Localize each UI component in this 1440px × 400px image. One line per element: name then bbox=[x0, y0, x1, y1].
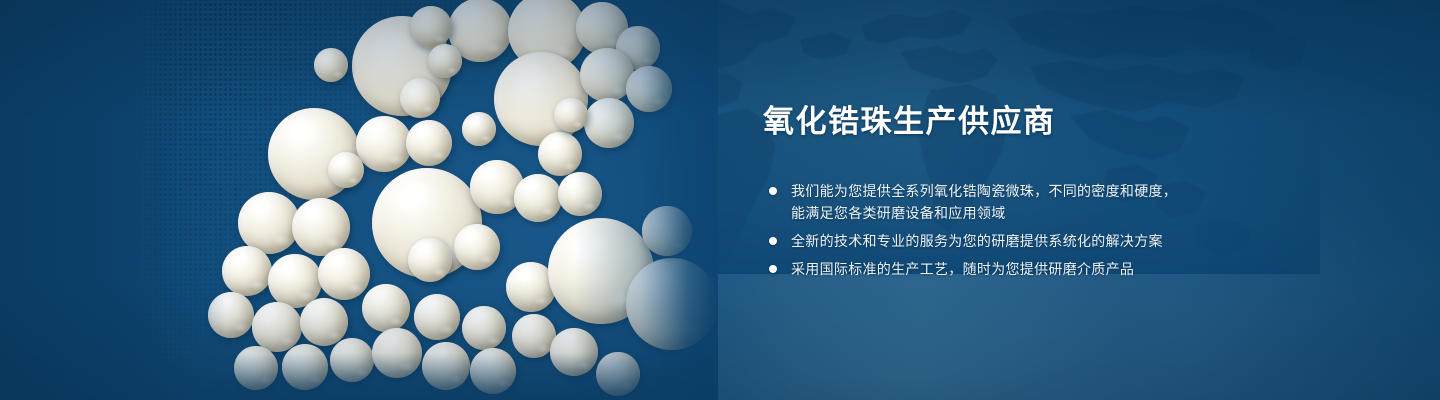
bullet-dot-icon bbox=[769, 187, 777, 195]
benefit-text: 采用国际标准的生产工艺，随时为您提供研磨介质产品 bbox=[791, 258, 1233, 280]
banner-headline: 氧化锆珠生产供应商 bbox=[763, 104, 1233, 140]
bullet-dot-icon bbox=[769, 237, 777, 245]
banner-copy: 氧化锆珠生产供应商 我们能为您提供全系列氧化锆陶瓷微珠，不同的密度和硬度， 能满… bbox=[763, 104, 1233, 280]
bullet-dot-icon bbox=[769, 265, 777, 273]
benefit-text: 我们能为您提供全系列氧化锆陶瓷微珠，不同的密度和硬度， 能满足您各类研磨设备和应… bbox=[791, 180, 1233, 224]
benefit-text: 全新的技术和专业的服务为您的研磨提供系统化的解决方案 bbox=[791, 230, 1233, 252]
benefit-list-item: 全新的技术和专业的服务为您的研磨提供系统化的解决方案 bbox=[763, 230, 1233, 252]
benefit-list-item: 采用国际标准的生产工艺，随时为您提供研磨介质产品 bbox=[763, 258, 1233, 280]
hero-banner: 氧化锆珠生产供应商 我们能为您提供全系列氧化锆陶瓷微珠，不同的密度和硬度， 能满… bbox=[0, 0, 1440, 400]
benefit-list-item: 我们能为您提供全系列氧化锆陶瓷微珠，不同的密度和硬度， 能满足您各类研磨设备和应… bbox=[763, 180, 1233, 224]
benefit-list: 我们能为您提供全系列氧化锆陶瓷微珠，不同的密度和硬度， 能满足您各类研磨设备和应… bbox=[763, 180, 1233, 280]
